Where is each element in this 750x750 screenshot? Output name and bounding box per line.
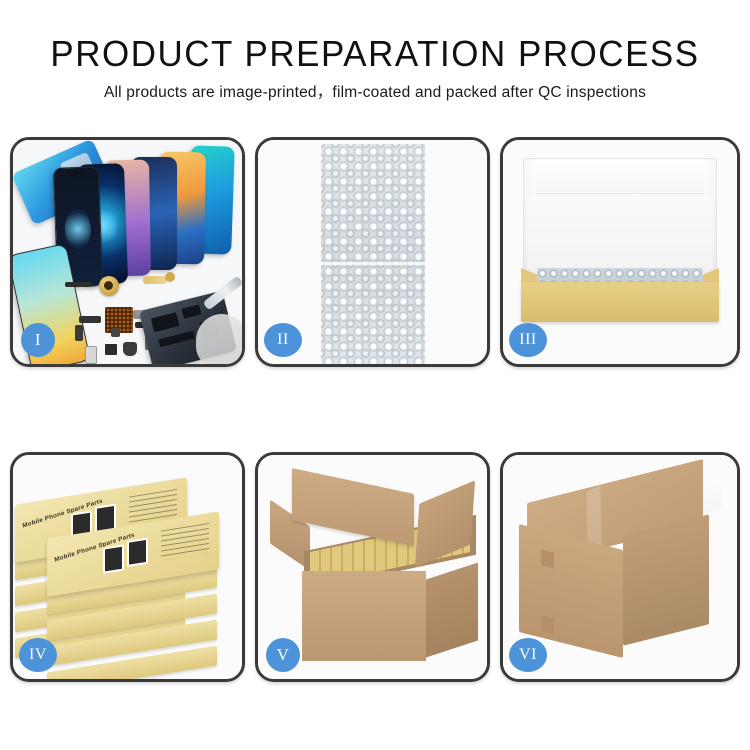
step-badge-iv: IV bbox=[19, 638, 57, 672]
step-panel-i: I bbox=[10, 137, 245, 367]
bubble-wrap-illustration bbox=[321, 144, 425, 364]
page-title: PRODUCT PREPARATION PROCESS bbox=[11, 34, 739, 74]
step-badge-vi: VI bbox=[509, 638, 547, 672]
step-badge-ii: II bbox=[264, 323, 302, 357]
header: PRODUCT PREPARATION PROCESS All products… bbox=[0, 0, 750, 103]
step-panel-iii: III bbox=[500, 137, 740, 367]
step-panel-iv: Mobile Phone Spare Parts Mobile Phone Sp… bbox=[10, 452, 245, 682]
step-badge-i: I bbox=[21, 323, 55, 357]
step-badge-v: V bbox=[266, 638, 300, 672]
carton-side-face bbox=[623, 514, 709, 645]
hand-icon bbox=[196, 314, 242, 364]
page-subtitle: All products are image-printed，film-coat… bbox=[0, 83, 750, 103]
open-shipping-carton-illustration bbox=[270, 479, 477, 665]
carton-flap-top-icon bbox=[292, 468, 414, 546]
step-panel-ii: II bbox=[255, 137, 490, 367]
process-steps-grid: I II bbox=[10, 137, 740, 682]
sealed-shipping-carton-illustration bbox=[513, 481, 729, 663]
open-mailer-box-illustration bbox=[517, 152, 723, 330]
product-preparation-infographic: PRODUCT PREPARATION PROCESS All products… bbox=[0, 0, 750, 750]
step-panel-vi: VI bbox=[500, 452, 740, 682]
box-tray-icon bbox=[521, 282, 719, 322]
carton-front-face bbox=[302, 571, 426, 661]
step-panel-v: V bbox=[255, 452, 490, 682]
retail-box-stack-illustration: Mobile Phone Spare Parts Mobile Phone Sp… bbox=[17, 469, 236, 671]
step-badge-iii: III bbox=[509, 323, 547, 357]
